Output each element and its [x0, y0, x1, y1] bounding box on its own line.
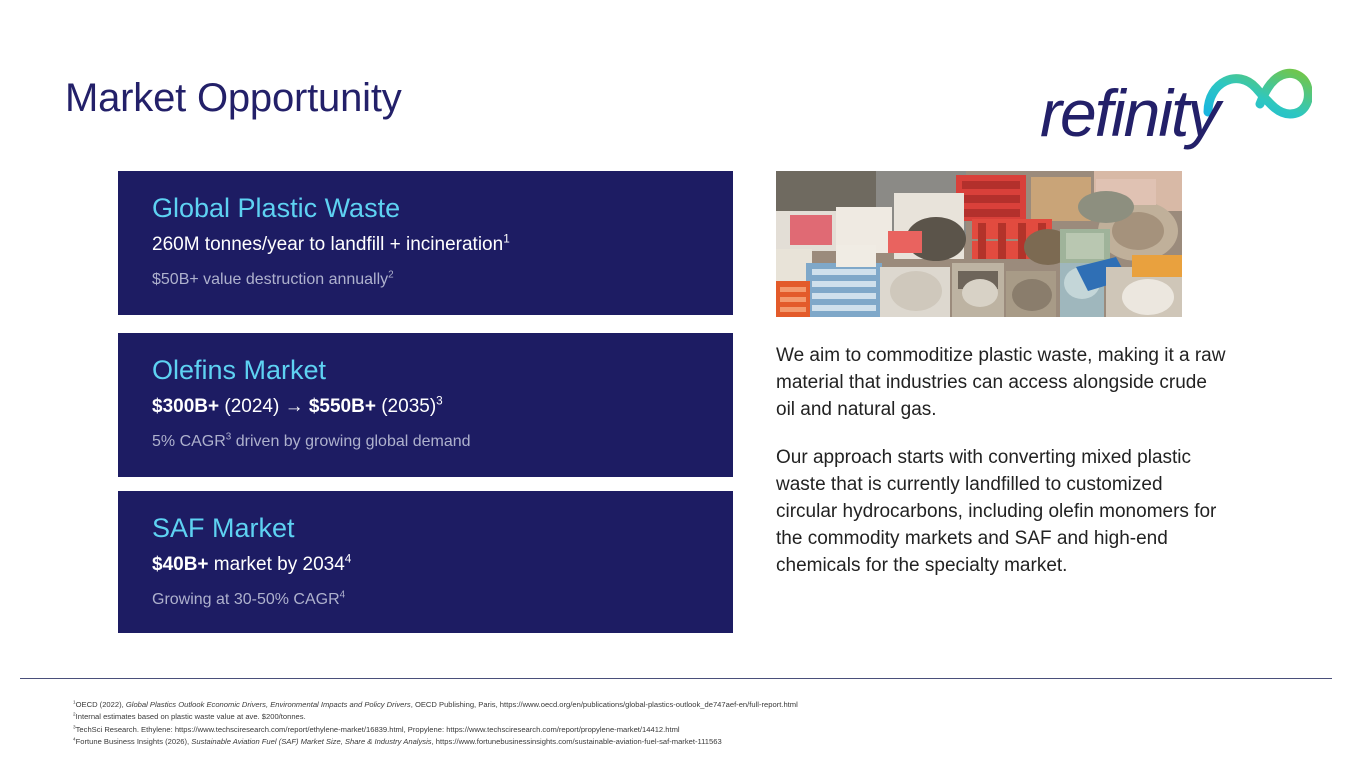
copy-paragraph-2: Our approach starts with converting mixe… [776, 445, 1228, 580]
card-heading: Global Plastic Waste [152, 193, 733, 224]
slide-canvas: Market Opportunity refinity Global Plast… [0, 0, 1365, 768]
card-primary-stat: $40B+ market by 20344 [152, 553, 733, 577]
footnote-item: 4Fortune Business Insights (2026), Susta… [73, 736, 1323, 748]
narrative-copy: We aim to commoditize plastic waste, mak… [776, 343, 1228, 580]
plastic-waste-photo [776, 171, 1182, 317]
footnote-item: 2Internal estimates based on plastic was… [73, 711, 1323, 723]
stat-card-olefins-market[interactable]: Olefins Market $300B+ (2024) → $550B+ (2… [118, 333, 733, 477]
card-secondary-stat: 5% CAGR3 driven by growing global demand [152, 432, 733, 452]
footnotes-list: 1OECD (2022), Global Plastics Outlook Ec… [73, 699, 1323, 748]
stat-card-global-plastic-waste[interactable]: Global Plastic Waste 260M tonnes/year to… [118, 171, 733, 315]
footer-divider [20, 678, 1332, 679]
card-primary-stat: 260M tonnes/year to landfill + incinerat… [152, 233, 733, 257]
card-heading: SAF Market [152, 513, 733, 544]
page-title: Market Opportunity [65, 76, 402, 120]
plastic-waste-illustration [776, 171, 1182, 317]
card-primary-stat: $300B+ (2024) → $550B+ (2035)3 [152, 395, 733, 419]
footnote-item: 1OECD (2022), Global Plastics Outlook Ec… [73, 699, 1323, 711]
copy-paragraph-1: We aim to commoditize plastic waste, mak… [776, 343, 1228, 424]
card-secondary-stat: Growing at 30-50% CAGR4 [152, 590, 733, 610]
footnote-item: 3TechSci Research. Ethylene: https://www… [73, 724, 1323, 736]
logo-wordmark: refinity [1040, 80, 1218, 146]
card-secondary-stat: $50B+ value destruction annually2 [152, 270, 733, 290]
card-heading: Olefins Market [152, 355, 733, 386]
stat-card-saf-market[interactable]: SAF Market $40B+ market by 20344 Growing… [118, 491, 733, 633]
brand-logo[interactable]: refinity [1032, 44, 1312, 148]
